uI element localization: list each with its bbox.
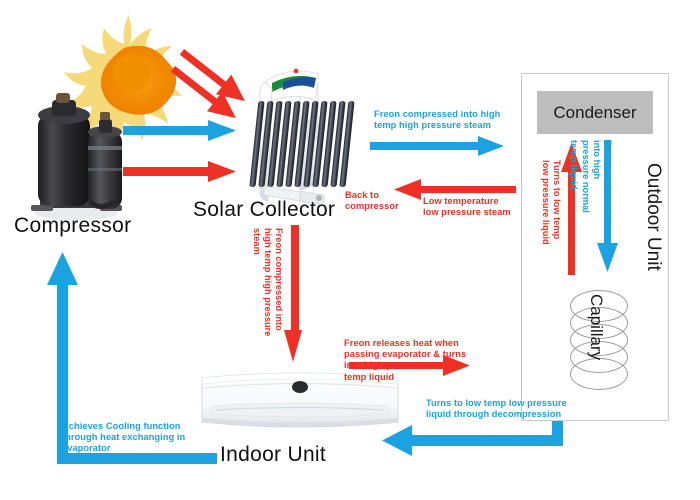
compressor-icon — [31, 93, 122, 220]
solar-collector-icon — [249, 69, 354, 205]
compressor-label: Compressor — [14, 214, 131, 238]
note-collector-down: Freon compressed into high temp high pre… — [250, 228, 284, 336]
note-decompression: Turns to low temp low pressure liquid th… — [426, 398, 567, 420]
note-evaporator-release: Freon releases heat when passing evapora… — [344, 338, 466, 383]
arrow-collector-to-compressor-red — [123, 161, 236, 182]
arrow-collector-to-condenser — [370, 136, 504, 156]
note-cooling-function: Achieves Cooling function through heat e… — [62, 421, 185, 455]
indoor-unit-label: Indoor Unit — [220, 443, 326, 467]
note-low-temperature-steam: Low temperature low pressure steam — [423, 196, 511, 218]
solar-collector-label: Solar Collector — [193, 198, 335, 222]
arrow-collector-down — [284, 225, 302, 362]
note-compressor-to-collector: Freon compressed into high temp high pre… — [374, 109, 500, 131]
diagram-canvas: Condenser Outdoor Unit Capillary — [0, 0, 700, 500]
note-back-to-compressor: Back to compressor — [345, 190, 399, 212]
solar-ray-arrows — [165, 42, 252, 128]
note-freon-exothermic: Freon exothermic into high pressure norm… — [568, 140, 613, 227]
note-turns-low-temp-liquid: Turns to low temp low pressure liquid — [540, 160, 562, 245]
pipe-outdoor-to-indoor — [382, 421, 563, 456]
